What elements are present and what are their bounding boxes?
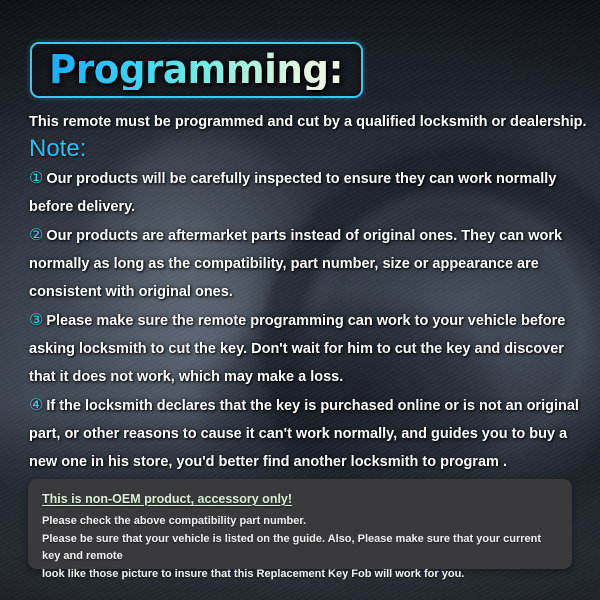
note-text-1: Our products will be carefully inspected… bbox=[29, 171, 556, 215]
note-marker-1: ① bbox=[29, 168, 46, 187]
note-marker-2: ② bbox=[29, 225, 46, 244]
disclaimer-line-1: Please check the above compatibility par… bbox=[42, 513, 558, 531]
note-item-4: ④If the locksmith declares that the key … bbox=[29, 391, 581, 476]
note-item-1: ①Our products will be carefully inspecte… bbox=[29, 164, 581, 221]
note-text-2: Our products are aftermarket parts inste… bbox=[29, 228, 562, 300]
note-heading: Note: bbox=[29, 136, 86, 162]
disclaimer-box: This is non-OEM product, accessory only!… bbox=[28, 479, 572, 569]
note-list: ①Our products will be carefully inspecte… bbox=[29, 164, 581, 476]
page-title: Programming: bbox=[50, 50, 344, 90]
note-item-2: ②Our products are aftermarket parts inst… bbox=[29, 221, 581, 306]
note-text-4: If the locksmith declares that the key i… bbox=[29, 398, 579, 470]
disclaimer-line-3: look like those picture to insure that t… bbox=[42, 566, 558, 584]
lead-statement: This remote must be programmed and cut b… bbox=[29, 114, 577, 130]
disclaimer-line-2: Please be sure that your vehicle is list… bbox=[42, 531, 558, 566]
note-marker-4: ④ bbox=[29, 395, 46, 414]
note-item-3: ③Please make sure the remote programming… bbox=[29, 306, 581, 391]
disclaimer-title: This is non-OEM product, accessory only! bbox=[42, 492, 292, 506]
programming-info-graphic: Programming: This remote must be program… bbox=[0, 0, 600, 600]
note-marker-3: ③ bbox=[29, 310, 46, 329]
note-text-3: Please make sure the remote programming … bbox=[29, 313, 565, 385]
title-banner: Programming: bbox=[30, 42, 363, 98]
